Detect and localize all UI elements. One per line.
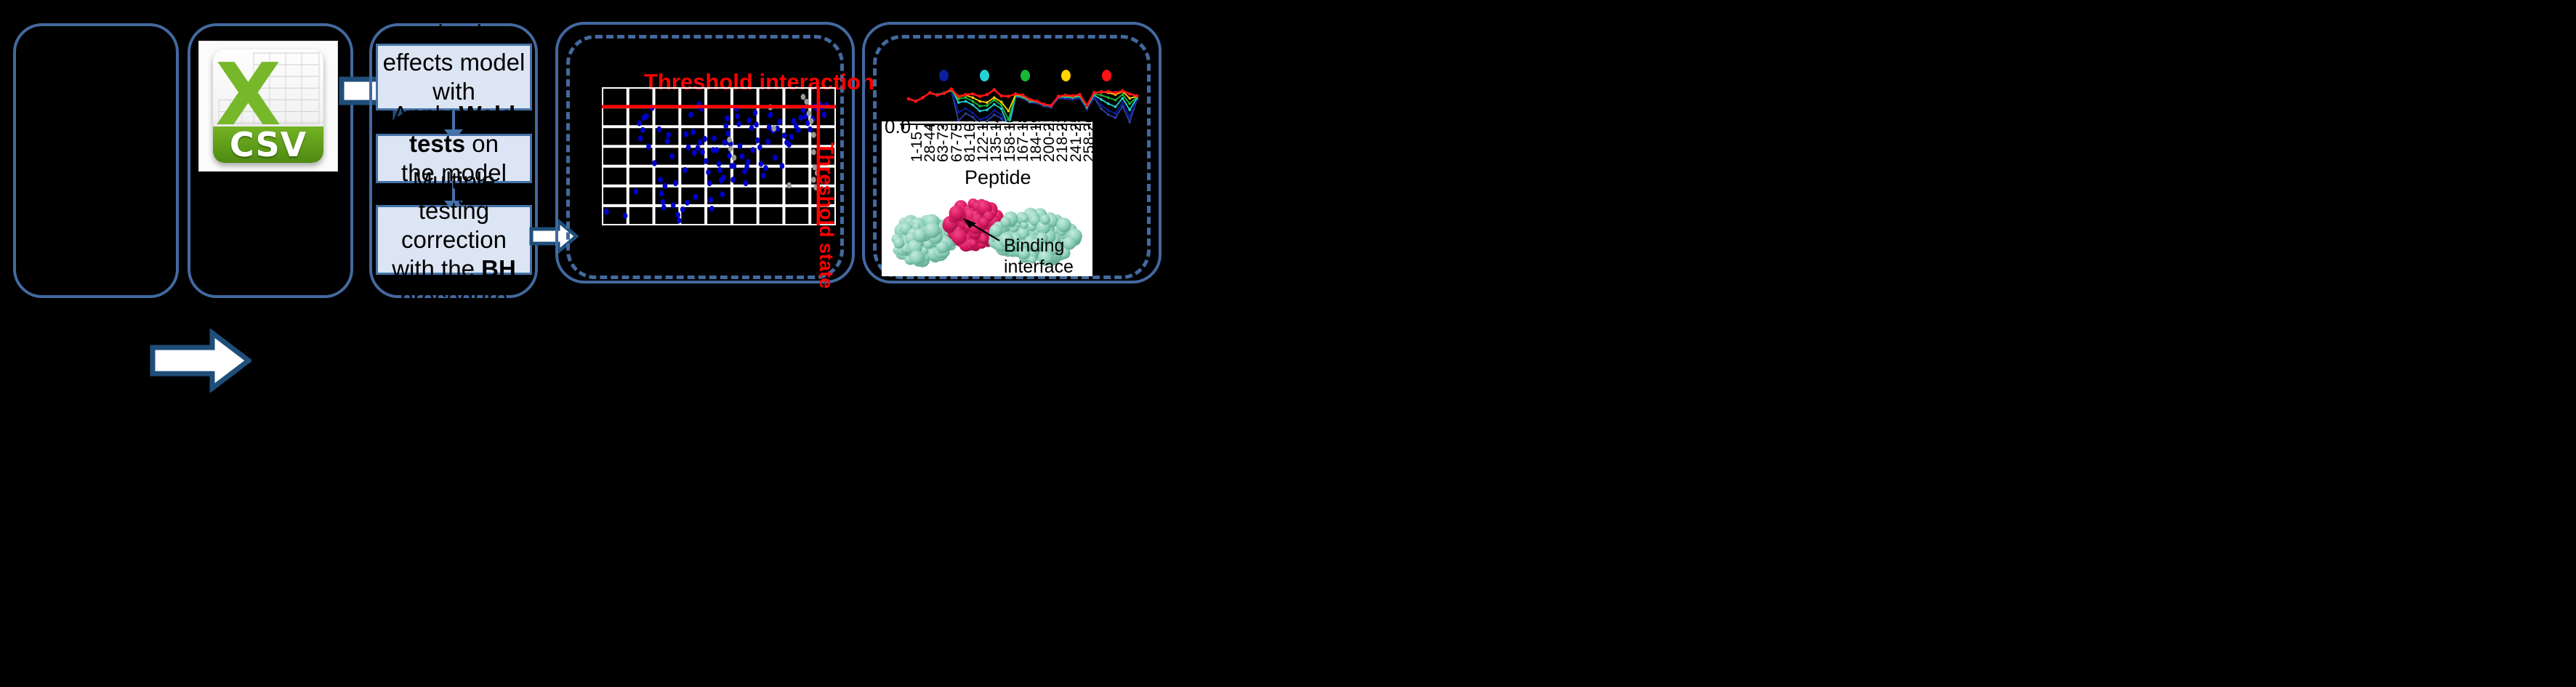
legend-dot-series-red	[1102, 70, 1111, 81]
input-panel	[13, 23, 179, 298]
legend-dot-series-yellow	[1061, 70, 1071, 81]
peptide-axis-title: Peptide	[965, 166, 1031, 189]
step-box-multiple-testing[interactable]: Multiple testingcorrectionwith the BH pr…	[376, 205, 532, 275]
legend-dot-series-green	[1021, 70, 1030, 81]
peptide-tick-label: 258-266	[1081, 121, 1092, 162]
legend-dot-series-navy	[939, 70, 949, 81]
csv-file-icon[interactable]: X CSV	[199, 41, 337, 171]
peptide-tick-labels: 1-1528-4463-7367-7581-101122-129135-1441…	[882, 121, 1092, 172]
threshold-scatter-plot	[602, 87, 836, 225]
step-box-multiple-testing-text: Multiple testingcorrectionwith the BH pr…	[382, 166, 526, 313]
peptide-structure-card: 0.0 1-1528-4463-7367-7581-101122-129135-…	[882, 121, 1092, 276]
arrow-input-to-csv	[150, 329, 251, 393]
scatter-svg	[602, 87, 836, 225]
csv-band: CSV	[213, 126, 323, 163]
csv-band-label: CSV	[230, 125, 307, 163]
binding-interface-annotation: Binding interface	[1004, 236, 1074, 276]
peptide-chart-legend	[939, 70, 1128, 84]
csv-x-letter: X	[215, 52, 257, 108]
workflow-diagram: X CSV Fit a linear mixed-effects model w…	[0, 0, 2576, 687]
threshold-state-label: Threshold state	[815, 142, 837, 289]
legend-dot-series-cyan	[980, 70, 989, 81]
csv-icon-body: X CSV	[213, 49, 323, 164]
